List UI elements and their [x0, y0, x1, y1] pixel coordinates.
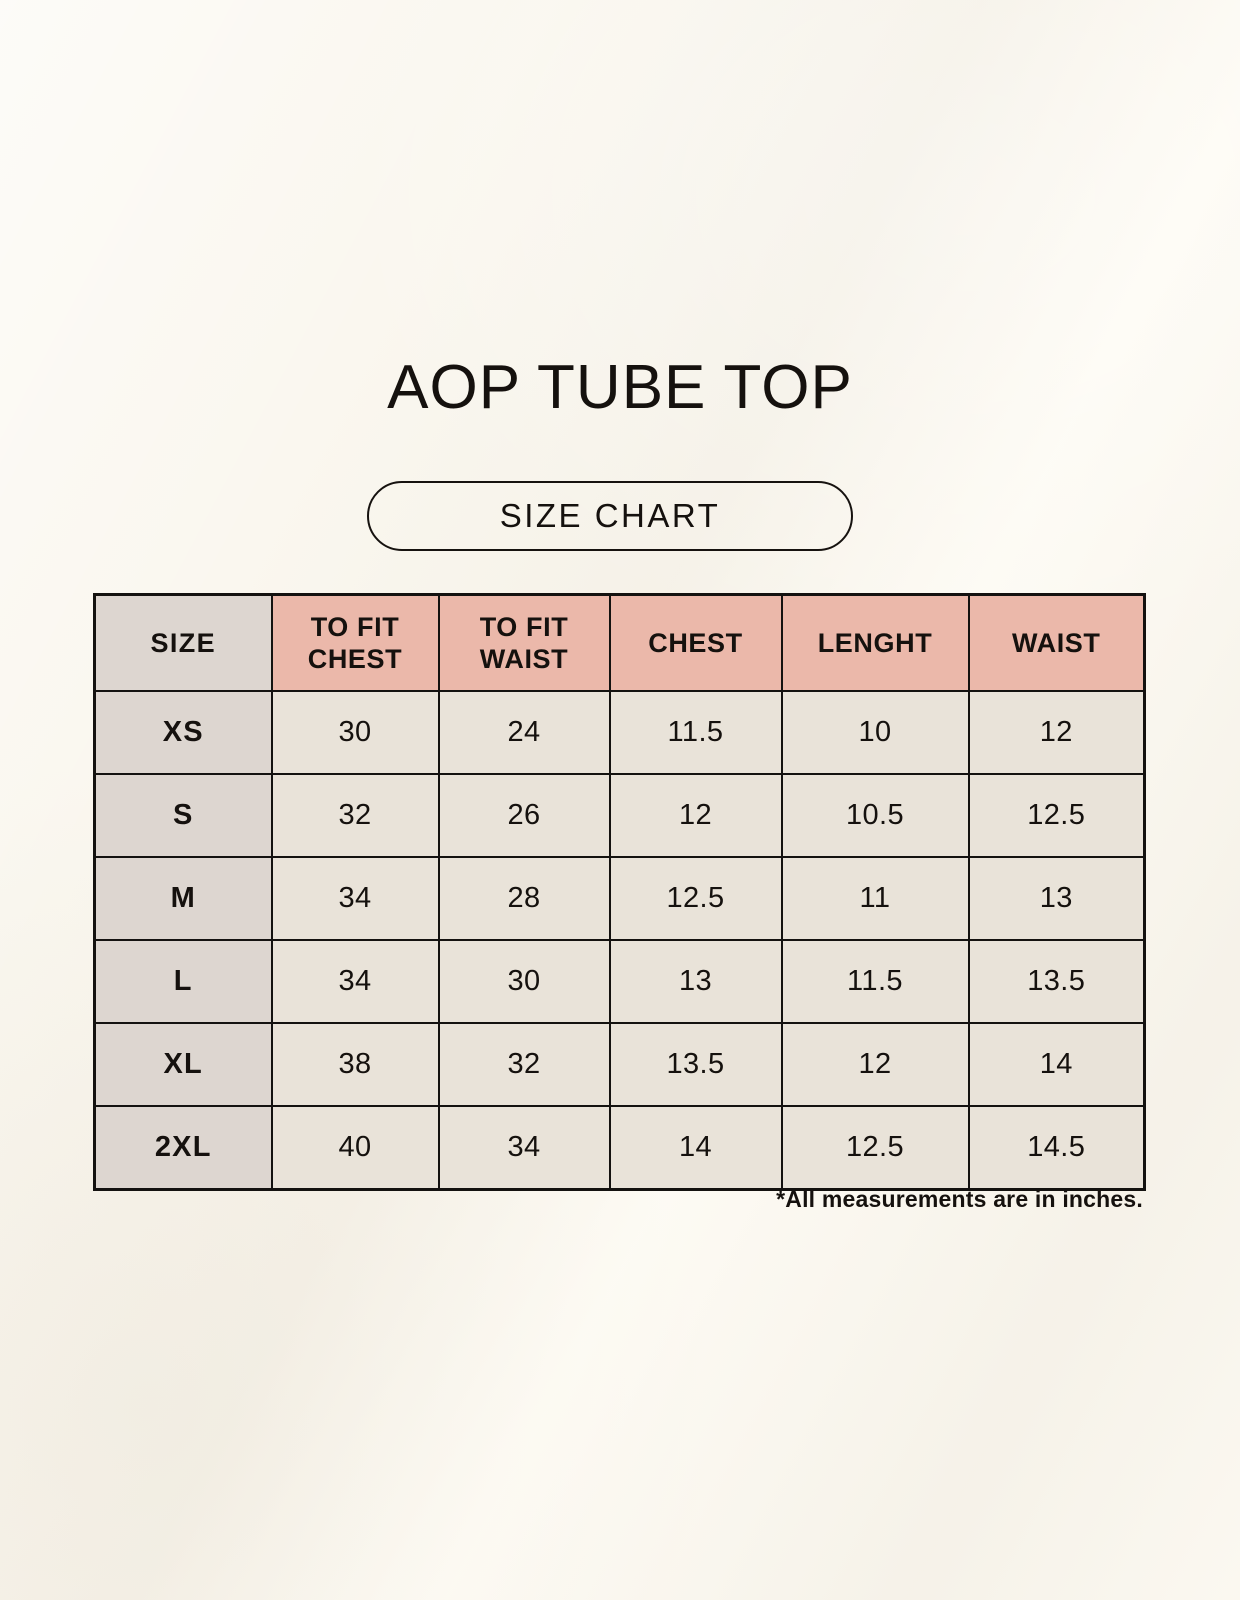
size-chart-badge: SIZE CHART [367, 481, 853, 551]
cell-size: 2XL [95, 1106, 272, 1190]
cell-size: XS [95, 691, 272, 774]
cell-length: 10 [782, 691, 969, 774]
cell-to-fit-chest: 34 [272, 857, 439, 940]
cell-chest: 12 [610, 774, 782, 857]
header-row: SIZE TO FIT CHEST TO FIT WAIST CHEST LEN [95, 595, 1145, 692]
cell-waist: 12.5 [969, 774, 1145, 857]
cell-length: 12.5 [782, 1106, 969, 1190]
table-row: XL 38 32 13.5 12 14 [95, 1023, 1145, 1106]
size-table: SIZE TO FIT CHEST TO FIT WAIST CHEST LEN [93, 593, 1146, 1191]
cell-to-fit-waist: 24 [439, 691, 610, 774]
cell-to-fit-waist: 30 [439, 940, 610, 1023]
cell-to-fit-chest: 38 [272, 1023, 439, 1106]
size-table-head: SIZE TO FIT CHEST TO FIT WAIST CHEST LEN [95, 595, 1145, 692]
measurement-units-note: *All measurements are in inches. [93, 1186, 1143, 1213]
table-row: 2XL 40 34 14 12.5 14.5 [95, 1106, 1145, 1190]
size-chart-page: AOP TUBE TOP SIZE CHART SIZE TO FIT [0, 0, 1240, 1600]
table-row: S 32 26 12 10.5 12.5 [95, 774, 1145, 857]
column-header-to-fit-waist: TO FIT WAIST [439, 595, 610, 692]
cell-waist: 12 [969, 691, 1145, 774]
column-header-to-fit-chest: TO FIT CHEST [272, 595, 439, 692]
cell-to-fit-chest: 30 [272, 691, 439, 774]
size-table-container: SIZE TO FIT CHEST TO FIT WAIST CHEST LEN [93, 593, 1143, 1191]
table-row: M 34 28 12.5 11 13 [95, 857, 1145, 940]
cell-chest: 14 [610, 1106, 782, 1190]
cell-to-fit-waist: 32 [439, 1023, 610, 1106]
cell-chest: 13 [610, 940, 782, 1023]
cell-size: XL [95, 1023, 272, 1106]
table-row: L 34 30 13 11.5 13.5 [95, 940, 1145, 1023]
column-header-size: SIZE [95, 595, 272, 692]
cell-chest: 11.5 [610, 691, 782, 774]
cell-waist: 14.5 [969, 1106, 1145, 1190]
cell-length: 11 [782, 857, 969, 940]
cell-to-fit-waist: 34 [439, 1106, 610, 1190]
cell-chest: 13.5 [610, 1023, 782, 1106]
column-header-waist: WAIST [969, 595, 1145, 692]
cell-length: 10.5 [782, 774, 969, 857]
cell-length: 12 [782, 1023, 969, 1106]
column-header-lenght: LENGHT [782, 595, 969, 692]
cell-waist: 13.5 [969, 940, 1145, 1023]
size-chart-badge-label: SIZE CHART [500, 497, 721, 535]
size-table-body: XS 30 24 11.5 10 12 S 32 26 12 10.5 12.5… [95, 691, 1145, 1190]
column-header-chest: CHEST [610, 595, 782, 692]
cell-waist: 14 [969, 1023, 1145, 1106]
table-row: XS 30 24 11.5 10 12 [95, 691, 1145, 774]
cell-chest: 12.5 [610, 857, 782, 940]
cell-to-fit-waist: 26 [439, 774, 610, 857]
cell-size: L [95, 940, 272, 1023]
cell-to-fit-chest: 32 [272, 774, 439, 857]
cell-length: 11.5 [782, 940, 969, 1023]
cell-waist: 13 [969, 857, 1145, 940]
cell-to-fit-waist: 28 [439, 857, 610, 940]
cell-size: S [95, 774, 272, 857]
cell-size: M [95, 857, 272, 940]
page-title: AOP TUBE TOP [0, 352, 1240, 424]
cell-to-fit-chest: 34 [272, 940, 439, 1023]
cell-to-fit-chest: 40 [272, 1106, 439, 1190]
